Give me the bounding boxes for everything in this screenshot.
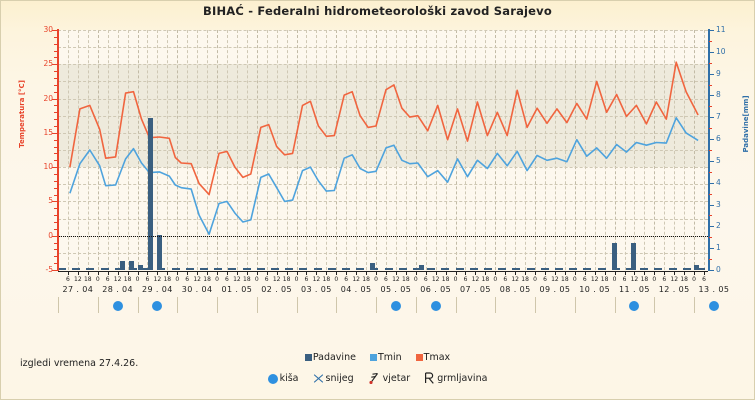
precipitation-tick-minor [709,215,712,216]
day-separator [138,297,139,313]
legend-label: Tmin [378,352,402,363]
rain-dot [113,301,123,311]
precipitation-baseline-segment [299,268,307,270]
precipitation-baseline-segment [654,268,662,270]
precipitation-tick [709,30,714,31]
precipitation-tick [709,161,714,162]
x-axis-tick [138,271,139,275]
x-axis-tick [386,271,387,275]
day-separator [58,297,59,313]
legend-swatch-icon [305,354,312,361]
day-separator [336,297,337,313]
precipitation-baseline-segment [683,268,691,270]
temperature-tick-minor [54,249,57,250]
temperature-tick-minor [54,160,57,161]
precipitation-baseline-segment [186,268,194,270]
legend-item-tmin: Tmin [370,352,402,363]
precipitation-baseline-segment [484,268,492,270]
rain-dot [152,301,162,311]
x-axis-hour-label: 6 [697,276,711,283]
precipitation-baseline-segment [314,268,322,270]
x-axis-tick [287,271,288,275]
temperature-tick-label: 5 [13,196,53,205]
x-axis-tick [704,271,705,275]
x-axis-tick [416,271,417,275]
x-axis-tick [78,271,79,275]
x-axis-tick [366,271,367,275]
x-axis-tick [346,271,347,275]
rain-circle-icon [431,301,441,311]
x-axis-tick [605,271,606,275]
temperature-tick-label: 15 [13,128,53,137]
x-axis-tick [436,271,437,275]
rain-dot [391,301,401,311]
day-separator [535,297,536,313]
x-axis-line [58,271,708,272]
day-separator [217,297,218,313]
x-axis-tick [565,271,566,275]
x-axis-tick [644,271,645,275]
precipitation-tick-minor [709,194,712,195]
precipitation-baseline-segment [527,268,535,270]
x-axis-tick [376,271,377,275]
precipitation-bar [631,243,636,270]
symbol-legend: kišasnijegvjetargrmljavina [0,372,755,387]
x-axis-tick [98,271,99,275]
temperature-tick-minor [54,181,57,182]
temperature-tick-minor [54,57,57,58]
x-axis-tick [356,271,357,275]
temperature-tick-minor [54,51,57,52]
precipitation-axis-title: Padavine[mm] [742,64,750,184]
precipitation-tick [709,270,714,271]
page-title: BIHAĆ - Federalni hidrometeorološki zavo… [0,4,755,18]
precipitation-baseline-segment [342,268,350,270]
precipitation-tick [709,248,714,249]
precipitation-baseline-segment [541,268,549,270]
x-axis-tick [515,271,516,275]
temperature-tick-minor [54,215,57,216]
precipitation-tick [709,95,714,96]
x-axis-tick [396,271,397,275]
precipitation-bars [58,30,708,270]
legend-item-rain-circle: kiša [268,373,299,387]
x-axis-tick [535,271,536,275]
temperature-tick-label: -5 [13,265,53,274]
day-separator [416,297,417,313]
precipitation-baseline-segment [456,268,464,270]
temperature-tick-minor [54,153,57,154]
precipitation-tick-label: 11 [716,25,726,34]
temperature-tick-label: 20 [13,94,53,103]
x-axis-tick [297,271,298,275]
x-axis-tick [525,271,526,275]
precipitation-baseline-segment [370,268,378,270]
day-separator [575,297,576,313]
precipitation-tick-minor [709,41,712,42]
precipitation-baseline-segment [498,268,506,270]
precipitation-baseline-segment [626,268,634,270]
precipitation-baseline-segment [143,268,151,270]
x-axis-tick [575,271,576,275]
x-axis-tick [654,271,655,275]
precipitation-tick [709,74,714,75]
precipitation-tick [709,226,714,227]
rain-dot [431,301,441,311]
x-axis-tick [316,271,317,275]
temperature-tick-minor [54,229,57,230]
precipitation-tick-minor [709,85,712,86]
x-axis-tick [545,271,546,275]
thunder-icon [424,372,435,387]
temperature-tick-minor [54,105,57,106]
x-axis-tick [634,271,635,275]
precipitation-baseline-segment [697,268,705,270]
x-axis-tick [197,271,198,275]
day-separator [495,297,496,313]
precipitation-tick-minor [709,63,712,64]
precipitation-tick-label: 1 [716,243,721,252]
precipitation-baseline-segment [257,268,265,270]
x-axis-tick [485,271,486,275]
precipitation-baseline-segment [427,268,435,270]
legend-label: vjetar [383,373,411,384]
temperature-tick-minor [54,37,57,38]
x-axis-day-label: 13 . 05 [684,285,744,294]
legend-item-wind-barb: vjetar [368,372,411,387]
precipitation-baseline-segment [569,268,577,270]
series-legend: PadavineTminTmax [0,352,755,363]
day-separator [177,297,178,313]
precipitation-tick-minor [709,106,712,107]
x-axis-tick [237,271,238,275]
temperature-tick-minor [54,112,57,113]
precipitation-tick [709,117,714,118]
precipitation-tick-label: 8 [716,90,721,99]
day-separator [615,297,616,313]
precipitation-baseline-segment [612,268,620,270]
temperature-tick-label: 25 [13,59,53,68]
precipitation-baseline-segment [413,268,421,270]
temperature-tick-label: 30 [13,25,53,34]
x-axis-tick [694,271,695,275]
legend-label: grmljavina [437,373,487,384]
precipitation-tick [709,205,714,206]
x-axis-tick [187,271,188,275]
x-axis-tick [555,271,556,275]
weather-chart-plot-area [58,30,708,270]
precipitation-tick-label: 3 [716,200,721,209]
legend-label: Tmax [424,352,451,363]
legend-item-padavine: Padavine [305,352,356,363]
precipitation-baseline-segment [157,268,165,270]
precipitation-tick-label: 0 [716,265,721,274]
temperature-axis-line [57,29,59,271]
temperature-tick-minor [54,263,57,264]
precipitation-baseline-segment [598,268,606,270]
day-separator [654,297,655,313]
x-axis-tick [684,271,685,275]
precipitation-baseline-segment [512,268,520,270]
x-axis-tick [336,271,337,275]
temperature-tick-minor [54,243,57,244]
temperature-tick-minor [54,44,57,45]
rain-circle-icon [709,301,719,311]
precipitation-tick-minor [709,172,712,173]
temperature-tick-minor [54,147,57,148]
x-axis-tick [68,271,69,275]
x-axis-tick [257,271,258,275]
x-axis-tick [674,271,675,275]
rain-circle-icon [391,301,401,311]
legend-label: kiša [280,373,299,384]
x-axis-tick [595,271,596,275]
precipitation-baseline-segment [399,268,407,270]
precipitation-baseline-segment [129,268,137,270]
legend-item-snow: snijeg [313,373,354,387]
rain-circle-icon [152,301,162,311]
temperature-tick-minor [54,126,57,127]
precipitation-baseline-segment [228,268,236,270]
precipitation-baseline-segment [640,268,648,270]
precipitation-tick-label: 5 [716,156,721,165]
precipitation-baseline-segment [328,268,336,270]
precipitation-bar [157,235,162,270]
temperature-tick-minor [54,140,57,141]
x-axis-tick [505,271,506,275]
legend-swatch-icon [416,354,423,361]
temperature-tick-minor [54,85,57,86]
temperature-tick-label: 10 [13,162,53,171]
x-axis-tick [426,271,427,275]
precipitation-tick-minor [709,128,712,129]
x-axis-tick [585,271,586,275]
precipitation-bar [612,243,617,270]
legend-swatch-icon [370,354,377,361]
x-axis-tick [625,271,626,275]
rain-circle-icon [629,301,639,311]
precipitation-baseline-segment [214,268,222,270]
precipitation-tick-label: 6 [716,134,721,143]
precipitation-baseline-segment [285,268,293,270]
precipitation-tick-label: 7 [716,112,721,121]
day-separator [257,297,258,313]
x-axis-tick [326,271,327,275]
x-axis-tick [475,271,476,275]
precipitation-tick [709,139,714,140]
precipitation-baseline-segment [172,268,180,270]
precipitation-tick-minor [709,237,712,238]
temperature-axis-title: Temperatura [°C] [18,54,26,174]
precipitation-tick [709,183,714,184]
x-axis-tick [277,271,278,275]
temperature-tick-minor [54,119,57,120]
x-axis-tick [177,271,178,275]
x-axis-tick [207,271,208,275]
day-separator [694,297,695,313]
precipitation-baseline-segment [555,268,563,270]
precipitation-baseline-segment [243,268,251,270]
x-axis-tick [108,271,109,275]
x-axis-tick [306,271,307,275]
x-axis-tick [88,271,89,275]
precipitation-baseline-segment [200,268,208,270]
precipitation-baseline-segment [72,268,80,270]
legend-label: snijeg [326,373,354,384]
precipitation-baseline-segment [101,268,109,270]
precipitation-baseline-segment [583,268,591,270]
x-axis-tick [247,271,248,275]
precipitation-baseline-segment [470,268,478,270]
temperature-tick-minor [54,222,57,223]
precipitation-tick-minor [709,150,712,151]
day-separator [376,297,377,313]
x-axis-tick [446,271,447,275]
x-axis-tick [227,271,228,275]
temperature-tick-minor [54,256,57,257]
precipitation-tick-label: 9 [716,69,721,78]
legend-item-tmax: Tmax [416,352,451,363]
x-axis-tick [664,271,665,275]
day-separator [456,297,457,313]
x-axis-tick [267,271,268,275]
temperature-tick-minor [54,71,57,72]
temperature-tick-minor [54,174,57,175]
precipitation-bar [148,118,153,270]
x-axis-tick [147,271,148,275]
precipitation-tick-label: 4 [716,178,721,187]
day-separator [98,297,99,313]
legend-label: Padavine [313,352,356,363]
temperature-tick-minor [54,92,57,93]
precipitation-baseline-segment [86,268,94,270]
temperature-tick-minor [54,208,57,209]
x-axis-tick [465,271,466,275]
precipitation-baseline-segment [115,268,123,270]
x-axis-tick [217,271,218,275]
temperature-tick-label: 0 [13,231,53,240]
precipitation-baseline-segment [441,268,449,270]
day-separator [297,297,298,313]
precipitation-tick-label: 10 [716,47,726,56]
x-axis-tick [128,271,129,275]
rain-circle-icon [268,374,278,387]
precipitation-tick-minor [709,259,712,260]
rain-circle-icon [113,301,123,311]
x-axis-tick [167,271,168,275]
temperature-tick-minor [54,78,57,79]
precipitation-baseline-segment [271,268,279,270]
rain-dot [629,301,639,311]
snow-icon [313,373,324,387]
precipitation-baseline-segment [669,268,677,270]
precipitation-tick-label: 2 [716,221,721,230]
x-axis-tick [615,271,616,275]
rain-dot [709,301,719,311]
wind-barb-icon [368,372,381,387]
temperature-tick-minor [54,188,57,189]
temperature-tick-minor [54,195,57,196]
x-axis-tick [456,271,457,275]
x-axis-tick [495,271,496,275]
x-axis-tick [118,271,119,275]
precipitation-baseline-segment [385,268,393,270]
precipitation-baseline-segment [58,268,66,270]
x-axis-tick [157,271,158,275]
legend-item-thunder: grmljavina [424,372,487,387]
precipitation-baseline-segment [356,268,364,270]
zero-degree-line [58,236,708,237]
x-axis-tick [406,271,407,275]
precipitation-tick [709,52,714,53]
